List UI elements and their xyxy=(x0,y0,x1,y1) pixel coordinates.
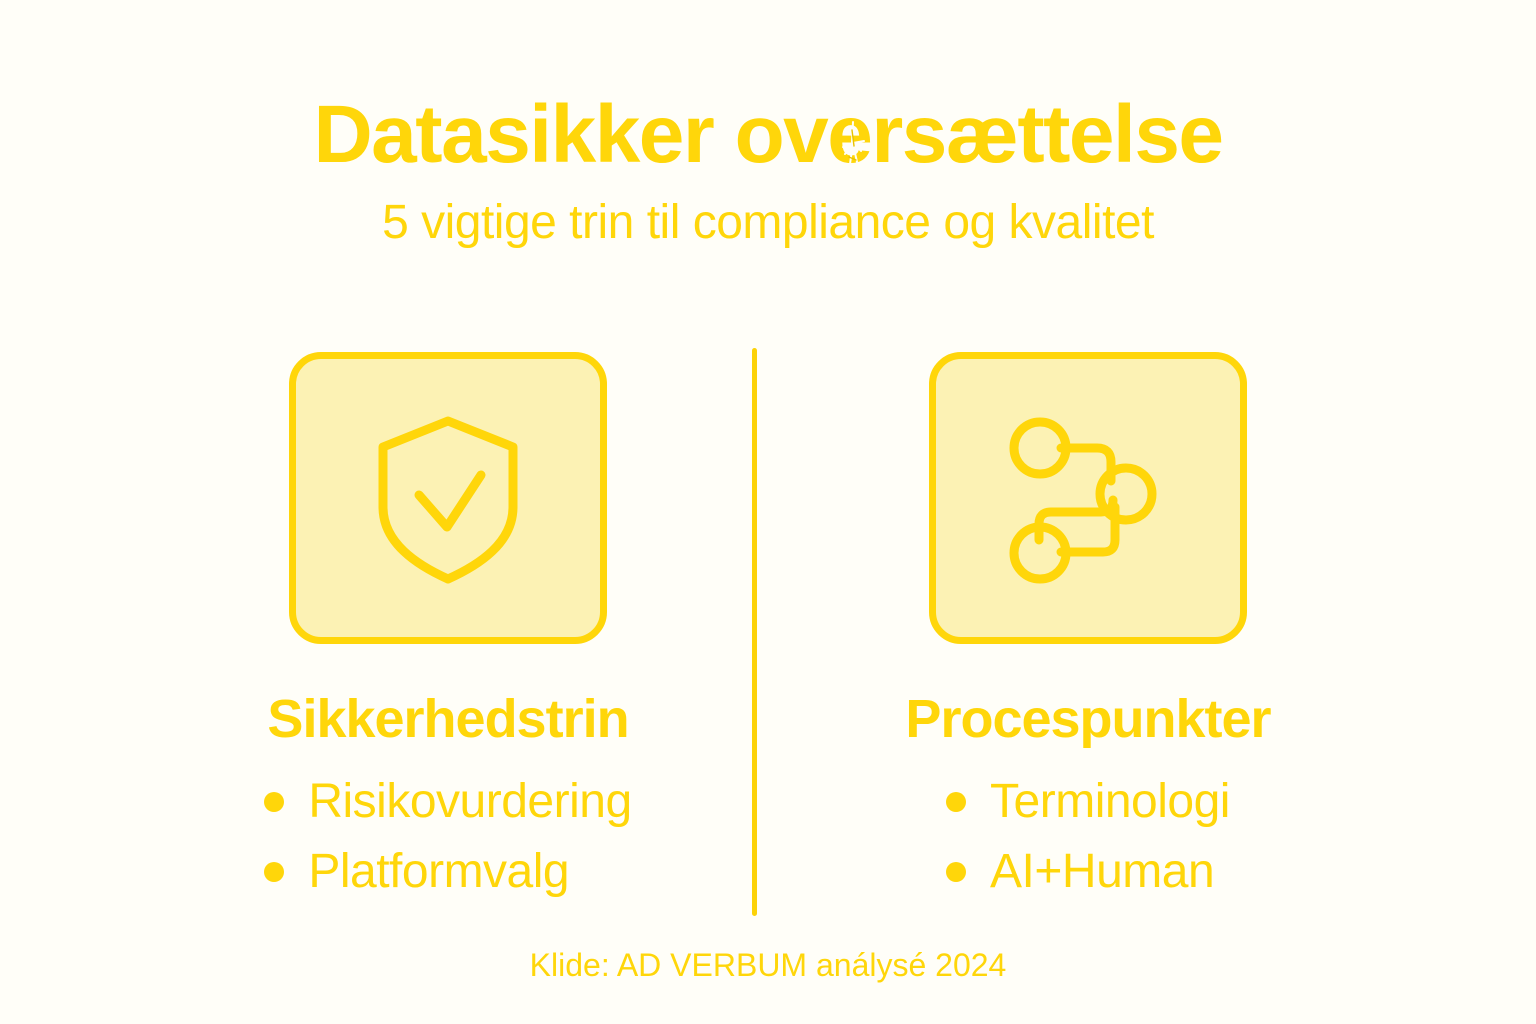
list-item: Platformvalg xyxy=(264,845,631,899)
bullet-list-sikkerhedstrin: Risikovurdering Platformvalg xyxy=(264,775,631,899)
source-caption: Klide: AD VERBUM análysé 2024 xyxy=(0,947,1536,984)
bullet-dot-icon xyxy=(264,792,284,812)
list-item: Terminologi xyxy=(946,775,1230,829)
bullet-dot-icon xyxy=(946,792,966,812)
shield-check-icon xyxy=(353,403,543,593)
bullet-dot-icon xyxy=(264,862,284,882)
workflow-nodes-icon xyxy=(993,403,1183,593)
bullet-label: Risikovurdering xyxy=(308,775,631,829)
page-subtitle: 5 vigtige trin til compliance og kvalite… xyxy=(0,198,1536,248)
list-item: Risikovurdering xyxy=(264,775,631,829)
columns-container: Sikkerhedstrin Risikovurdering Platformv… xyxy=(0,352,1536,899)
bullet-list-procespunkter: Terminologi AI+Human xyxy=(946,775,1230,899)
icon-card-procespunkter xyxy=(929,352,1247,644)
column-sikkerhedstrin: Sikkerhedstrin Risikovurdering Platformv… xyxy=(128,352,768,899)
page-title-text: Datasikker oversættelse xyxy=(313,89,1222,180)
page-title: Datasikker oversættelse xyxy=(313,94,1222,176)
column-heading-sikkerhedstrin: Sikkerhedstrin xyxy=(267,690,628,749)
column-heading-procespunkter: Procespunkter xyxy=(905,690,1270,749)
bullet-label: AI+Human xyxy=(990,845,1214,899)
column-procespunkter: Procespunkter Terminologi AI+Human xyxy=(768,352,1408,899)
list-item: AI+Human xyxy=(946,845,1230,899)
bullet-label: Terminologi xyxy=(990,775,1230,829)
bullet-label: Platformvalg xyxy=(308,845,569,899)
bullet-dot-icon xyxy=(946,862,966,882)
icon-card-sikkerhedstrin xyxy=(289,352,607,644)
infographic-canvas: Datasikker oversættelse 5 vigtige trin t… xyxy=(0,0,1536,1024)
header: Datasikker oversættelse 5 vigtige trin t… xyxy=(0,94,1536,248)
